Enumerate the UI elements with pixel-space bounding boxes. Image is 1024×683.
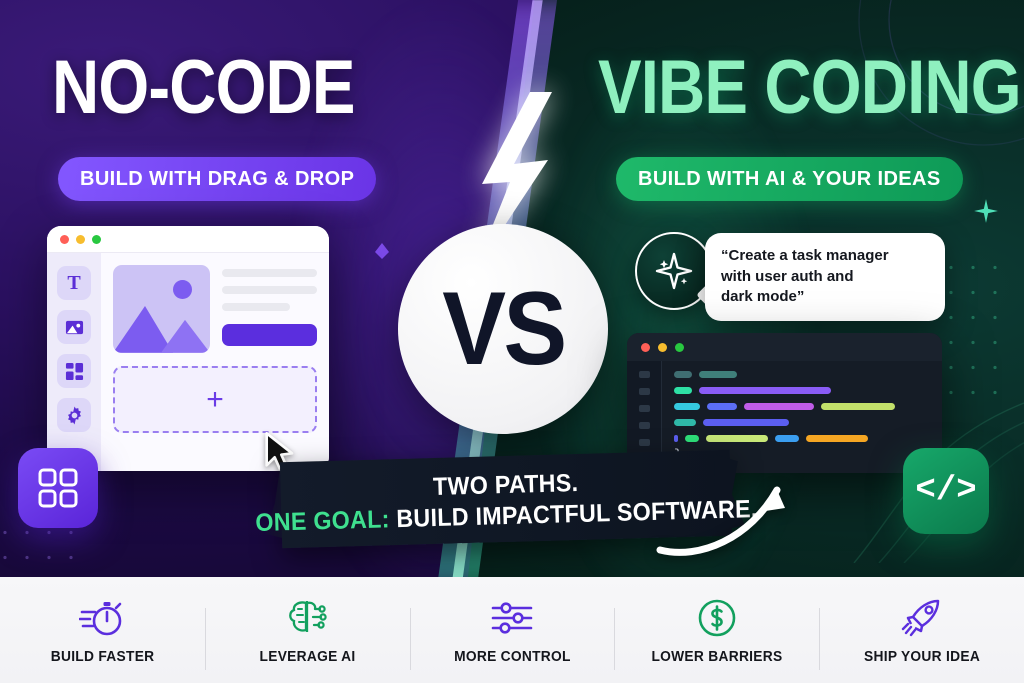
feature-label: LEVERAGE AI (259, 649, 355, 665)
code-line (674, 371, 932, 378)
feature-lower-barriers[interactable]: LOWER BARRIERS (614, 596, 819, 665)
brain-icon (285, 596, 329, 640)
code-token (775, 435, 799, 442)
page-title-left: NO-CODE (52, 50, 355, 126)
feature-ship-your-idea[interactable]: SHIP YOUR IDEA (819, 596, 1024, 665)
builder-content-row (113, 265, 317, 353)
image-placeholder (113, 265, 210, 353)
feature-bar: BUILD FASTER LEVERAGE AI (0, 577, 1024, 683)
window-minimize-button[interactable] (658, 343, 667, 352)
builder-text-lines (222, 265, 317, 353)
window-maximize-button[interactable] (675, 343, 684, 352)
code-token (699, 371, 737, 378)
sliders-icon (490, 596, 534, 640)
builder-cta-button[interactable] (222, 324, 317, 346)
components-tool-icon[interactable] (57, 354, 91, 388)
feature-label: LOWER BARRIERS (651, 649, 782, 665)
text-line (222, 286, 317, 294)
code-token (674, 435, 678, 442)
code-token (674, 387, 692, 394)
code-token (703, 419, 789, 426)
builder-toolbar: T (47, 253, 101, 471)
add-element-plus-icon: + (206, 383, 224, 417)
diamond-decoration-icon (375, 243, 389, 259)
code-token (685, 435, 699, 442)
feature-build-faster[interactable]: BUILD FASTER (0, 596, 205, 665)
prompt-line: “Create a task manager (721, 246, 929, 267)
curved-arrow-icon (655, 468, 795, 558)
code-token (674, 419, 696, 426)
code-token (806, 435, 868, 442)
vs-label: VS (442, 270, 564, 389)
code-token (674, 371, 692, 378)
feature-label: SHIP YOUR IDEA (864, 649, 980, 665)
code-token (821, 403, 895, 410)
text-line (222, 269, 317, 277)
prompt-line: with user auth and (721, 267, 929, 288)
settings-gear-icon[interactable] (57, 398, 91, 432)
image-tool-icon[interactable] (57, 310, 91, 344)
code-token (706, 435, 768, 442)
feature-leverage-ai[interactable]: LEVERAGE AI (205, 596, 410, 665)
prompt-line: dark mode” (721, 287, 929, 308)
grid-badge (18, 448, 98, 528)
gutter-line (639, 371, 650, 378)
window-close-button[interactable] (641, 343, 650, 352)
code-line (674, 403, 932, 410)
code-token (674, 403, 700, 410)
sparkle-icon (652, 249, 696, 293)
editor-titlebar (627, 333, 942, 361)
rocket-icon (900, 596, 944, 640)
text-tool-icon[interactable]: T (57, 266, 91, 300)
grid-icon (37, 467, 79, 509)
gutter-line (639, 439, 650, 446)
sparkle-decoration-icon (973, 198, 999, 224)
feature-label: BUILD FASTER (51, 649, 155, 665)
feature-more-control[interactable]: MORE CONTROL (410, 596, 615, 665)
code-line (674, 435, 932, 442)
page-title-right: VIBE CODING (598, 50, 1021, 126)
window-close-button[interactable] (60, 235, 69, 244)
image-sun-shape (173, 280, 192, 299)
image-mountains-shape (113, 300, 210, 353)
dollar-circle-icon (696, 596, 738, 640)
feature-label: MORE CONTROL (454, 649, 571, 665)
code-brackets-icon: </> (915, 472, 976, 510)
code-line (674, 419, 932, 426)
code-token (744, 403, 814, 410)
subtitle-pill-left: BUILD WITH DRAG & DROP (58, 157, 376, 201)
builder-titlebar (47, 226, 329, 253)
window-minimize-button[interactable] (76, 235, 85, 244)
window-maximize-button[interactable] (92, 235, 101, 244)
code-badge: </> (903, 448, 989, 534)
ai-prompt-bubble: “Create a task manager with user auth an… (705, 233, 945, 321)
banner-line-1: TWO PATHS. (433, 469, 579, 502)
gutter-line (639, 422, 650, 429)
drag-drop-zone[interactable]: + (113, 366, 317, 433)
gutter-line (639, 405, 650, 412)
code-line (674, 387, 932, 394)
code-token (707, 403, 737, 410)
infographic-canvas: NO-CODE BUILD WITH DRAG & DROP VIBE CODI… (0, 0, 1024, 683)
subtitle-pill-right: BUILD WITH AI & YOUR IDEAS (616, 157, 963, 201)
stopwatch-icon (79, 596, 125, 640)
text-line (222, 303, 290, 311)
vs-badge: VS (398, 224, 608, 434)
gutter-line (639, 388, 650, 395)
code-token (699, 387, 831, 394)
banner-accent-text: ONE GOAL: (255, 505, 390, 537)
